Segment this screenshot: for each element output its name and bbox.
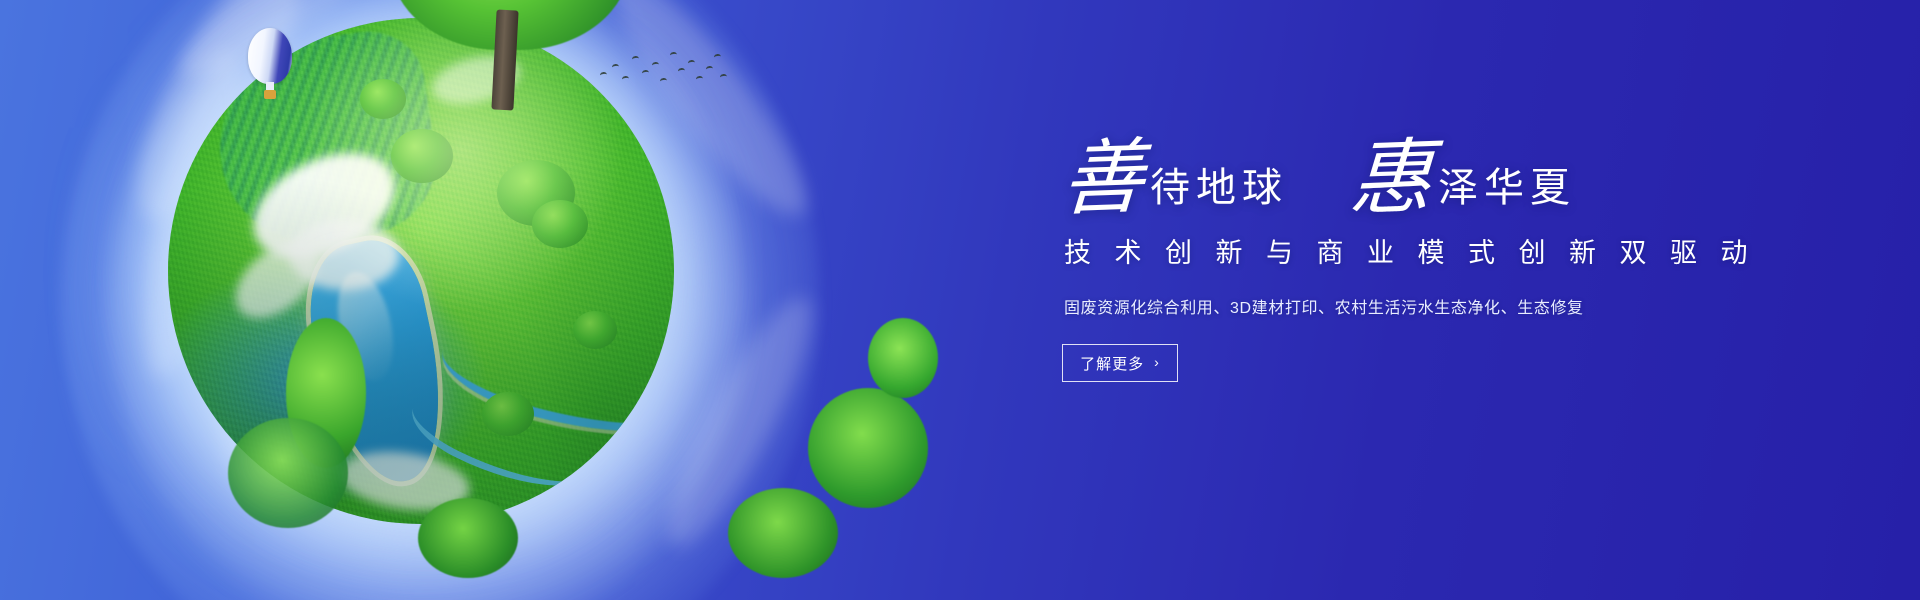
headline-text-zehuaxia: 泽华夏 [1438,168,1576,217]
learn-more-button[interactable]: 了解更多 › [1062,344,1178,382]
rim-tree [808,388,928,508]
green-earth-globe [168,18,674,524]
rim-tree [228,418,348,528]
headline-text-daidiqiu: 待地球 [1150,168,1288,217]
balloon-envelope [248,28,292,84]
rim-tree [728,488,838,578]
chevron-right-icon: › [1154,355,1160,369]
hero-banner: 善 待地球 惠 泽华夏 技 术 创 新 与 商 业 模 式 创 新 双 驱 动 … [0,0,1920,600]
headline-char-shan: 善 [1060,138,1152,218]
balloon-neck [266,82,274,90]
hero-copy: 善 待地球 惠 泽华夏 技 术 创 新 与 商 业 模 式 创 新 双 驱 动 … [1062,140,1822,382]
rim-tree [418,498,518,578]
headline-char-hui: 惠 [1348,138,1440,218]
hot-air-balloon-icon [248,28,292,106]
foreground-tree [390,0,630,90]
hero-subtitle: 技 术 创 新 与 商 业 模 式 创 新 双 驱 动 [1064,231,1822,270]
balloon-basket [264,90,276,99]
learn-more-label: 了解更多 [1080,353,1144,374]
bird-flock-icon [596,46,726,92]
rim-tree [868,318,938,398]
hero-description: 固废资源化综合利用、3D建材打印、农村生活污水生态净化、生态修复 [1064,294,1822,318]
page-title: 善 待地球 惠 泽华夏 [1062,140,1822,217]
